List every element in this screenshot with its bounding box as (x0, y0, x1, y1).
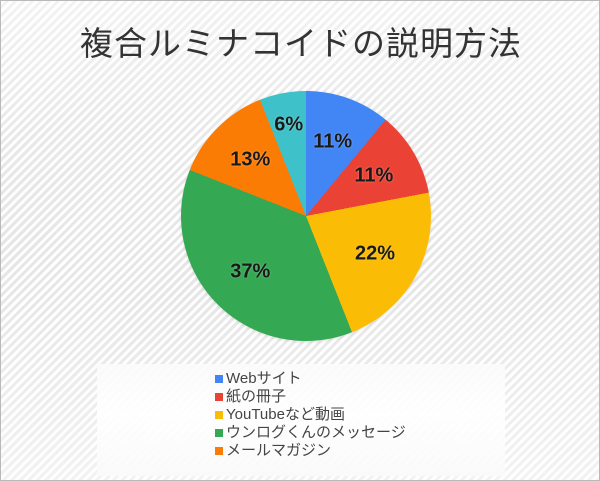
legend-item-label: 紙の冊子 (226, 388, 286, 406)
pie-slice-label: 11% (354, 164, 393, 187)
legend-item[interactable]: ウンログくんのメッセージ (215, 424, 406, 442)
chart-canvas: 複合ルミナコイドの説明方法 11%11%22%37%13%6% Webサイト紙の… (0, 0, 600, 481)
legend-swatch-icon (215, 411, 223, 419)
legend-item[interactable]: Webサイト (215, 370, 406, 388)
legend-item[interactable]: YouTubeなど動画 (215, 406, 406, 424)
legend: Webサイト紙の冊子YouTubeなど動画ウンログくんのメッセージメールマガジン (215, 370, 406, 460)
legend-swatch-icon (215, 429, 223, 437)
legend-item-label: Webサイト (226, 370, 302, 388)
pie-slice-label: 11% (313, 130, 352, 153)
legend-item-label: ウンログくんのメッセージ (226, 424, 406, 442)
legend-item[interactable]: 紙の冊子 (215, 388, 406, 406)
pie-slice-label: 13% (230, 149, 270, 172)
legend-item[interactable]: メールマガジン (215, 442, 406, 460)
legend-swatch-icon (215, 447, 223, 455)
legend-swatch-icon (215, 393, 223, 401)
chart-title: 複合ルミナコイドの説明方法 (1, 23, 600, 65)
legend-item-label: YouTubeなど動画 (226, 406, 345, 424)
pie-slice-label: 22% (355, 242, 395, 265)
legend-item-label: メールマガジン (226, 442, 331, 460)
pie-graphic (181, 91, 431, 341)
pie-slice-label: 37% (230, 260, 270, 283)
pie-chart: 11%11%22%37%13%6% (181, 91, 431, 341)
legend-swatch-icon (215, 375, 223, 383)
pie-slice-label: 6% (274, 114, 303, 137)
